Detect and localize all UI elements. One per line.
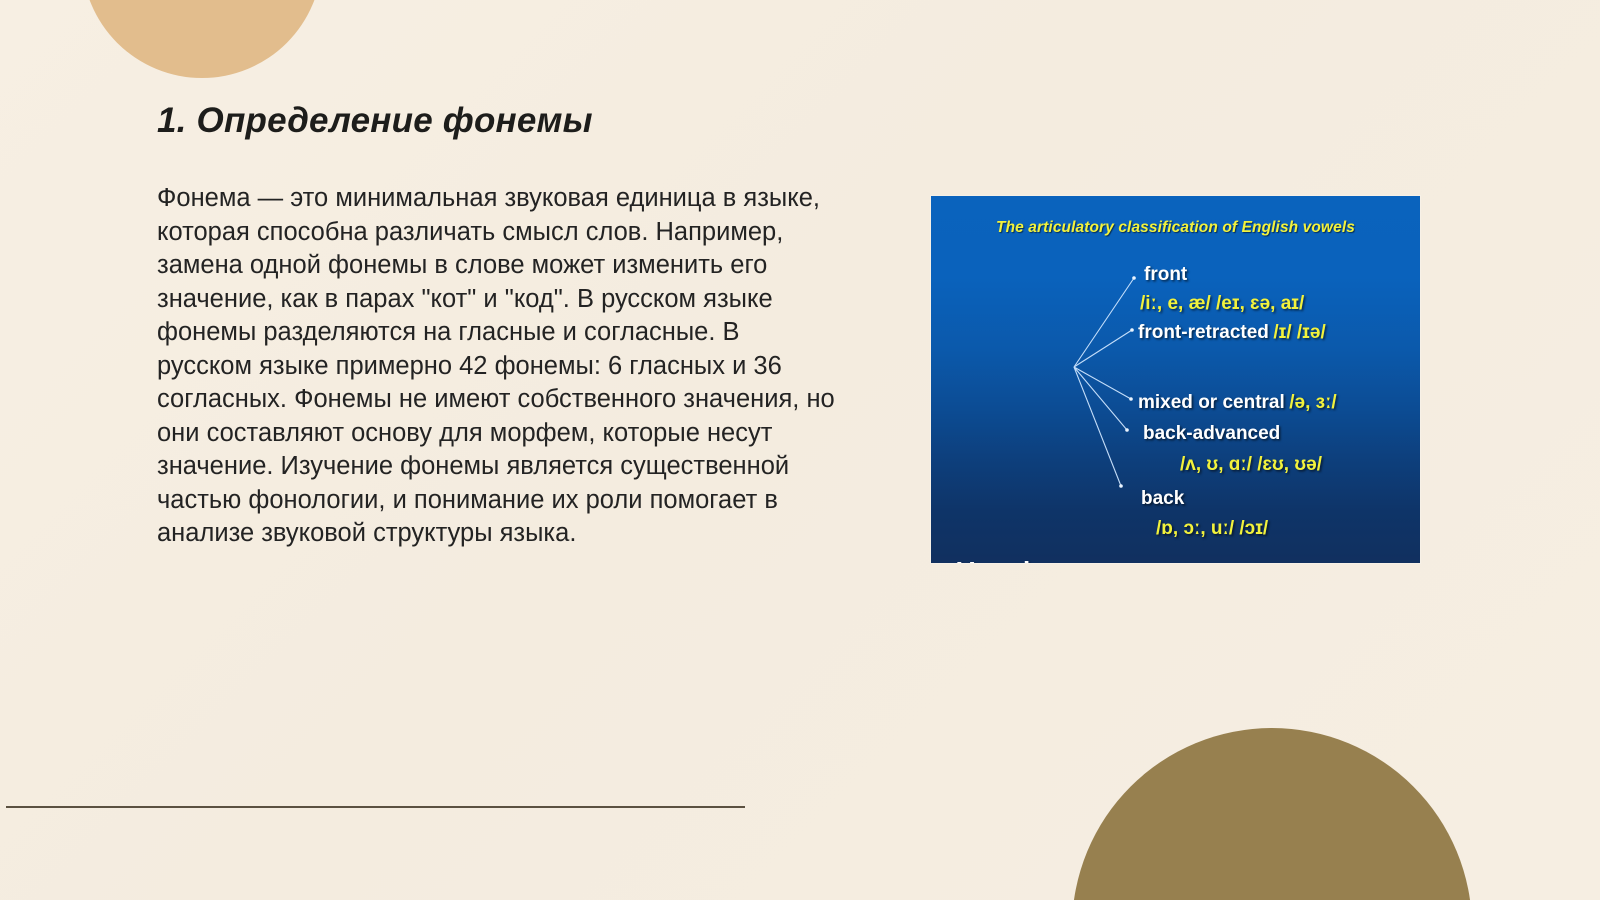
branch-label-back-advanced: back-advanced <box>1143 423 1280 445</box>
branch-ipa-back-advanced: /ʌ, ʊ, ɑː/ /ɛʊ, ʊə/ <box>1180 454 1322 476</box>
figure-root-label-vowels: Vowels <box>957 556 1045 563</box>
branch-label-mixed-central: mixed or central <box>1138 392 1285 413</box>
body-paragraph: Фонема — это минимальная звуковая единиц… <box>157 182 837 551</box>
branch-row-mixed-central: mixed or central /ə, ɜː/ <box>1138 392 1337 414</box>
slide-content: 1. Определение фонемы Фонема — это миним… <box>0 0 1600 900</box>
page-title: 1. Определение фонемы <box>157 101 593 141</box>
branch-row-front-retracted: front-retracted /ɪ/ /ɪə/ <box>1138 322 1326 344</box>
branch-ipa-front-retracted: /ɪ/ /ɪə/ <box>1273 322 1325 343</box>
branch-label-front-retracted: front-retracted <box>1138 322 1269 343</box>
branch-label-back: back <box>1141 488 1184 510</box>
branch-ipa-back: /ɒ, ɔː, uː/ /ɔɪ/ <box>1156 518 1268 540</box>
branch-label-front: front <box>1144 264 1187 286</box>
vowels-classification-figure: The articulatory classification of Engli… <box>931 196 1420 563</box>
branch-ipa-front: /iː, e, æ/ /eɪ, ɛə, aɪ/ <box>1140 293 1304 315</box>
branch-ipa-mixed-central: /ə, ɜː/ <box>1289 392 1336 413</box>
